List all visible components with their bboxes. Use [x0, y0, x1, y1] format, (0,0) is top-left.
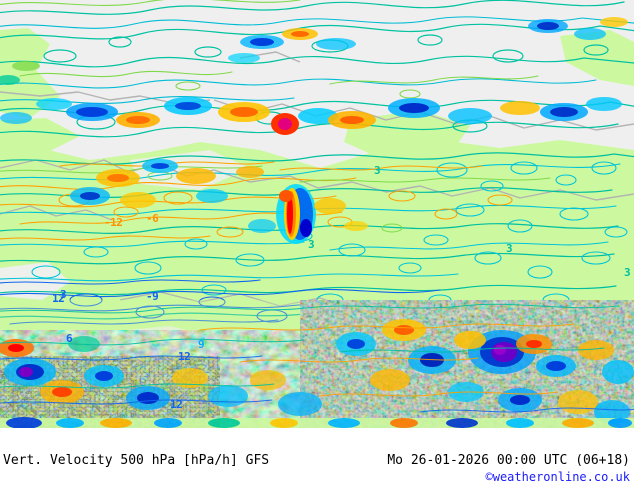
contour-label: 12	[170, 398, 182, 411]
contour-label: 3	[308, 238, 314, 251]
contour-label: 3	[506, 242, 512, 255]
contour-label: 6	[66, 332, 73, 345]
map-svg: -12 -6 12 3 -9 6 9 3 3 12 3 12 3	[0, 0, 634, 428]
contour-label: 3	[374, 164, 380, 177]
contour-label: -6	[146, 212, 159, 225]
map-footer: Vert. Velocity 500 hPa [hPa/h] GFS Mo 26…	[0, 428, 634, 490]
weather-map-canvas[interactable]: -12 -6 12 3 -9 6 9 3 3 12 3 12 3	[0, 0, 634, 428]
contour-label: 12	[178, 350, 190, 363]
contour-label: 3	[624, 266, 630, 279]
contour-label: 3	[60, 288, 66, 301]
contour-label: -12	[104, 216, 122, 229]
contour-label: 9	[198, 338, 204, 351]
map-run-info: Mo 26-01-2026 00:00 UTC (06+18)	[387, 453, 630, 468]
central-updraft-cell	[276, 184, 316, 244]
contour-label: -9	[146, 290, 158, 303]
weather-map-page: -12 -6 12 3 -9 6 9 3 3 12 3 12 3 Vert. V…	[0, 0, 634, 490]
copyright-link[interactable]: ©weatheronline.co.uk	[486, 470, 631, 484]
map-title: Vert. Velocity 500 hPa [hPa/h] GFS	[3, 453, 269, 468]
